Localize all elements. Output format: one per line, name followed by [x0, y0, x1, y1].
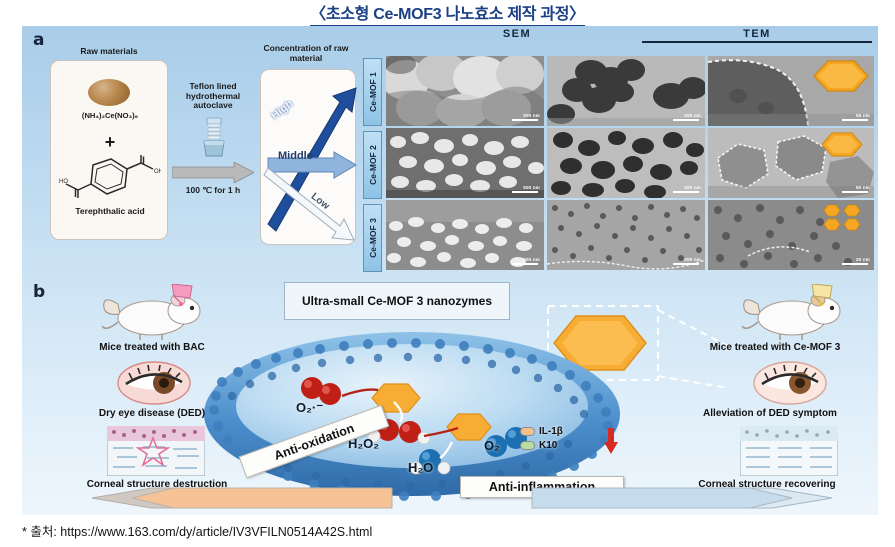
scale-bar-label: 500 nm: [523, 185, 540, 190]
healthy-eye-icon: [752, 360, 828, 406]
scale-bar-label: 200 nm: [684, 185, 701, 190]
caption-mice-bac: Mice treated with BAC: [42, 342, 262, 353]
cytokine-swatch-k10: [520, 441, 535, 450]
row-label-text: Ce-MOF 2: [368, 145, 378, 185]
species-label-superoxide: O₂·⁻: [296, 400, 323, 416]
cytokine-label-il1b: IL-1β: [539, 426, 563, 437]
scale-bar-label: 50 nm: [856, 113, 870, 118]
bottom-flow-arrows: [92, 486, 832, 514]
scale-bar: [842, 119, 868, 122]
scale-bar: [512, 119, 538, 122]
scale-bar: [842, 191, 868, 194]
species-label-oxygen: O₂: [484, 438, 500, 453]
row-label-ce-mof-2: Ce-MOF 2: [363, 131, 382, 199]
scale-bar-label: 50 nm: [856, 185, 870, 190]
scale-bar-label: 200 nm: [684, 113, 701, 118]
hexagon-inset-medium-icon: [820, 131, 864, 158]
column-header-tem: TEM: [642, 28, 872, 43]
row-label-ce-mof-1: Ce-MOF 1: [363, 58, 382, 126]
micrograph-cell: 50 nm: [708, 56, 874, 126]
micrograph-cell: 200 nm: [547, 200, 705, 270]
scale-bar: [512, 191, 538, 194]
row-label-ce-mof-3: Ce-MOF 3: [363, 204, 382, 272]
page-title-text: 〈초소형 Ce-MOF3 나노효소 제작 과정〉: [310, 0, 585, 27]
page-title: 〈초소형 Ce-MOF3 나노효소 제작 과정〉: [0, 0, 895, 26]
scale-bar: [673, 119, 699, 122]
cornea-destruction-icon: [107, 426, 205, 476]
scale-bar-label: 200 nm: [684, 257, 701, 262]
micrograph-cell: 500 nm: [386, 56, 544, 126]
micrograph-cell: 500 nm: [386, 128, 544, 198]
mouse-bac-icon: [100, 284, 204, 340]
cytokine-label-k10: K10: [539, 440, 557, 451]
micrograph-cell: 50 nm: [708, 128, 874, 198]
scale-bar-label: 20 nm: [856, 257, 870, 262]
panel-b: b Ultra-small Ce-MOF 3 nanozymes: [22, 278, 878, 515]
cornea-recovery-icon: [740, 426, 838, 476]
row-label-text: Ce-MOF 3: [368, 218, 378, 258]
caption-dry-eye-disease: Dry eye disease (DED): [42, 408, 262, 419]
species-label-water: H₂O: [408, 460, 433, 475]
arrow-middle-label: Middle: [278, 150, 313, 162]
caption-alleviation: Alleviation of DED symptom: [662, 408, 878, 419]
caption-mice-cemof3: Mice treated with Ce-MOF 3: [670, 342, 878, 353]
nanozyme-title-box: Ultra-small Ce-MOF 3 nanozymes: [284, 282, 510, 320]
panel-b-letter: b: [33, 282, 45, 302]
column-header-sem: SEM: [402, 28, 632, 40]
scale-bar-label: 500 nm: [523, 113, 540, 118]
micrograph-cell: 500 nm: [386, 200, 544, 270]
hexagon-inset-large-icon: [812, 59, 870, 93]
dry-eye-icon: [116, 360, 192, 406]
panel-a: a Raw materials (NH₄)₂Ce(NO₃)₆ +: [22, 26, 878, 278]
down-arrow-icon: [604, 428, 618, 454]
source-caption: * 출처: https://www.163.com/dy/article/IV3…: [22, 521, 372, 540]
row-label-text: Ce-MOF 1: [368, 72, 378, 112]
scale-bar: [673, 263, 699, 266]
scale-bar: [842, 263, 868, 266]
screenshot-root: 〈초소형 Ce-MOF3 나노효소 제작 과정〉 a Raw materials…: [0, 0, 895, 547]
scale-bar: [512, 263, 538, 266]
micrograph-cell: 200 nm: [547, 56, 705, 126]
mouse-cemof3-icon: [740, 284, 844, 340]
scientific-figure: a Raw materials (NH₄)₂Ce(NO₃)₆ +: [22, 26, 878, 515]
micrograph-grid: 500 nm: [386, 56, 874, 272]
scale-bar: [673, 191, 699, 194]
micrograph-cell: 20 nm: [708, 200, 874, 270]
micrograph-cell: 200 nm: [547, 128, 705, 198]
hexagon-inset-small-cluster-icon: [822, 203, 868, 233]
cytokine-swatch-il1b: [520, 427, 535, 436]
scale-bar-label: 500 nm: [523, 257, 540, 262]
